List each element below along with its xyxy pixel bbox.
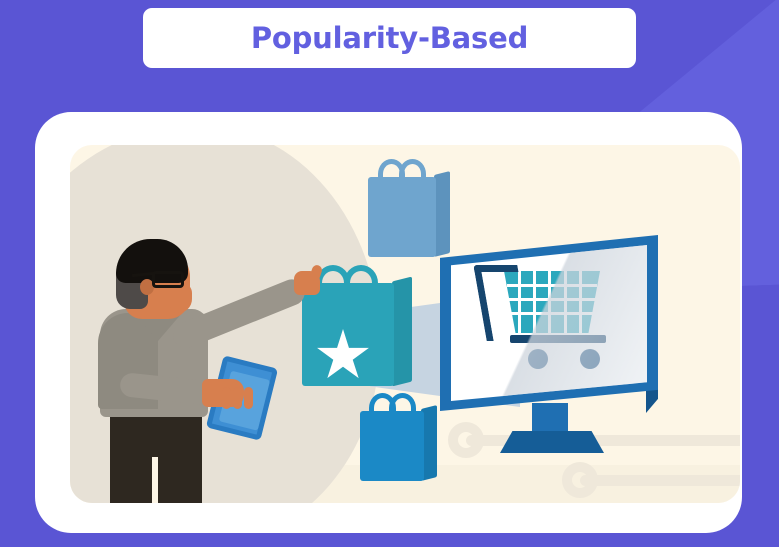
glasses-icon (152, 271, 184, 288)
slide-canvas: Popularity-Based (0, 0, 779, 547)
shopper-character (82, 237, 292, 503)
page-title: Popularity-Based (251, 21, 528, 55)
shopping-bag-bottom (360, 393, 424, 481)
bag-side-panel (392, 277, 412, 387)
decoration-ring-2 (562, 462, 598, 498)
character-finger (233, 387, 242, 409)
illustration-card (35, 112, 742, 533)
character-finger (244, 387, 253, 409)
screen-glare (451, 245, 647, 401)
title-card: Popularity-Based (143, 8, 636, 68)
character-finger (222, 387, 231, 409)
bag-front-panel (368, 177, 436, 257)
desktop-monitor (440, 235, 670, 435)
monitor-stand-neck (532, 403, 568, 435)
decoration-line-2 (580, 475, 740, 486)
star-icon (316, 329, 370, 383)
character-leg-gap (152, 457, 158, 503)
shopping-bag-top (368, 159, 436, 257)
bag-front-panel (360, 411, 424, 481)
illustration-panel (70, 145, 740, 503)
bag-front-panel (302, 283, 394, 386)
monitor-stand-base (500, 431, 604, 453)
